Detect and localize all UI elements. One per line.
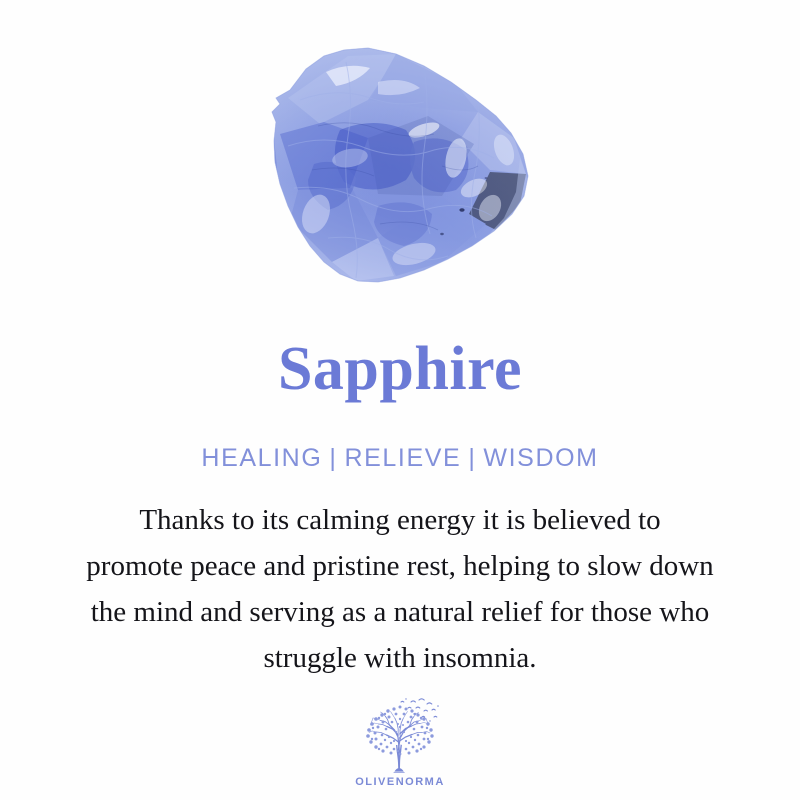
- hero-image-area: [0, 0, 800, 320]
- keyword-wisdom: WISDOM: [483, 444, 598, 472]
- rough-sapphire-crystal-image: [228, 38, 558, 306]
- brand-wordmark: OLIVENORMA: [355, 776, 445, 788]
- keyword-separator-1: |: [322, 444, 344, 472]
- keyword-relieve: RELIEVE: [345, 444, 462, 472]
- description-line-3: the mind and serving as a natural relief…: [24, 589, 776, 635]
- description-line-2: promote peace and pristine rest, helping…: [24, 543, 776, 589]
- description-line-1: Thanks to its calming energy it is belie…: [24, 497, 776, 543]
- keyword-healing: HEALING: [201, 444, 322, 472]
- brand-logo: OLIVENORMA: [0, 697, 800, 788]
- page-title: Sapphire: [278, 320, 522, 400]
- description-text: Thanks to its calming energy it is belie…: [24, 471, 776, 681]
- keyword-subtitle: HEALING|RELIEVE|WISDOM: [201, 400, 598, 471]
- keyword-separator-2: |: [461, 444, 483, 472]
- olivenorma-tree-of-life-logo-icon: [354, 697, 446, 775]
- sapphire-info-card: Sapphire HEALING|RELIEVE|WISDOM Thanks t…: [0, 0, 800, 800]
- description-line-4: struggle with insomnia.: [24, 635, 776, 681]
